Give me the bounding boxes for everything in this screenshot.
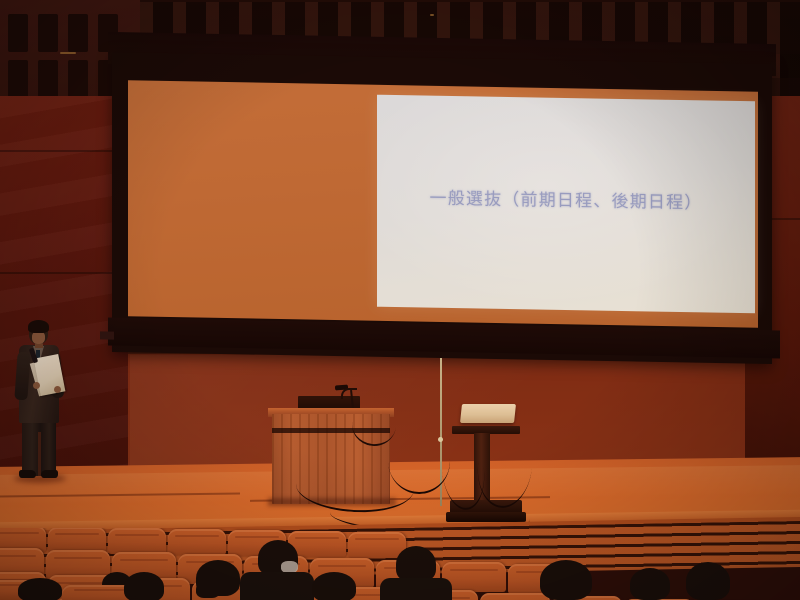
attendee-shoulders: [240, 572, 314, 600]
projected-slide: 一般選抜（前期日程、後期日程）: [377, 95, 755, 314]
attendee-head: [18, 578, 62, 600]
presenter-hand-left: [33, 382, 40, 389]
auditorium-presentation-photo: 一般選抜（前期日程、後期日程）: [0, 0, 800, 600]
presenter-shoe-left: [19, 470, 36, 478]
laptop-device: [460, 404, 516, 423]
attendee-head: [196, 560, 240, 596]
presenter-shoe-right: [41, 470, 58, 478]
presenter-hair: [28, 320, 49, 333]
attendee-shoulders: [380, 578, 452, 600]
presenter-leg-gap: [38, 432, 41, 476]
attendee-head: [686, 562, 730, 600]
attendee-head: [124, 572, 164, 600]
presenter-hand-right: [54, 386, 61, 393]
microphone-gooseneck: [341, 388, 357, 399]
attendee-head: [258, 540, 298, 576]
attendee-head: [540, 560, 592, 600]
attendee-head: [396, 546, 436, 582]
attendee-head: [312, 572, 356, 600]
attendee-head: [630, 568, 670, 600]
slide-title-text: 一般選抜（前期日程、後期日程）: [377, 183, 755, 215]
